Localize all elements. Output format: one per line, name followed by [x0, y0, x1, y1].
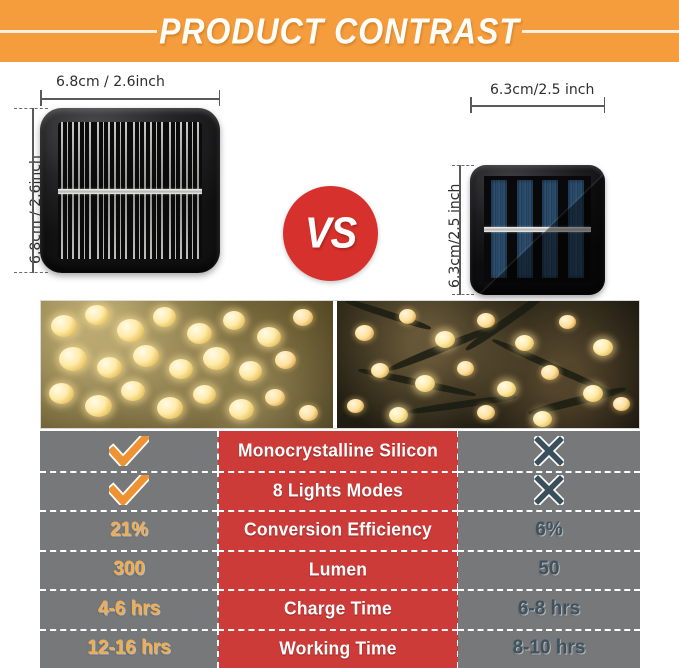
others-solar-panel — [470, 165, 605, 295]
ours-height-dimension-line — [32, 108, 34, 273]
others-value-text: 50 — [538, 557, 559, 581]
column-divider — [217, 431, 219, 471]
table-row: 21%Conversion Efficiency6% — [40, 510, 640, 550]
ours-value-text: 4-6 hrs — [98, 597, 160, 621]
feature-label-cell: Conversion Efficiency — [218, 510, 458, 550]
others-width-dimension-label: 6.3cm/2.5 inch — [490, 82, 594, 98]
feature-label-text: Lumen — [309, 558, 367, 581]
feature-label-text: Conversion Efficiency — [244, 518, 432, 541]
comparison-table: Monocrystalline Silicon8 Lights Modes21%… — [40, 431, 640, 668]
ours-cell-busbar — [58, 189, 202, 194]
others-value-cell: 6% — [458, 510, 640, 550]
product-photo-strip — [40, 300, 640, 429]
feature-label-text: Charge Time — [284, 597, 392, 620]
ours-height-guide-top — [14, 108, 48, 109]
cross-icon — [534, 475, 564, 505]
others-width-tick-right — [604, 97, 606, 113]
ours-value-cell: 21% — [40, 510, 218, 550]
others-value-cell: 6-8 hrs — [458, 589, 640, 629]
others-height-guide-bottom — [452, 294, 474, 295]
ours-value-cell: 300 — [40, 550, 218, 590]
feature-label-text: Monocrystalline Silicon — [238, 439, 438, 462]
others-height-guide-top — [452, 165, 474, 166]
others-value-cell — [458, 431, 640, 471]
ours-width-tick-right — [219, 90, 221, 106]
feature-label-text: Working Time — [279, 637, 396, 660]
column-divider — [217, 510, 219, 550]
column-divider — [217, 589, 219, 629]
others-value-cell: 8-10 hrs — [458, 629, 640, 668]
check-icon — [109, 475, 149, 505]
feature-label-text: 8 Lights Modes — [273, 479, 403, 502]
product-comparison-area: 6.8cm / 2.6inch 6.8cm / 2.6inch VS 6.3cm… — [0, 62, 679, 294]
vs-badge: VS — [283, 186, 378, 281]
page-title: PRODUCT CONTRAST — [157, 10, 522, 51]
others-product-photo — [337, 301, 639, 428]
ours-product-photo — [41, 301, 333, 428]
ours-width-dimension-label: 6.8cm / 2.6inch — [56, 74, 165, 90]
ours-width-tick-left — [40, 90, 42, 106]
others-value-cell — [458, 471, 640, 511]
vs-badge-label: VS — [305, 209, 356, 259]
column-divider — [217, 471, 219, 511]
cross-icon — [534, 436, 564, 466]
others-value-text: 6-8 hrs — [518, 597, 580, 621]
ours-height-guide-bottom — [14, 272, 48, 273]
others-width-tick-left — [470, 97, 472, 113]
others-solar-cell-face — [484, 176, 591, 282]
feature-label-cell: Monocrystalline Silicon — [218, 431, 458, 471]
ours-value-cell — [40, 471, 218, 511]
table-row: 8 Lights Modes — [40, 471, 640, 511]
feature-label-cell: Charge Time — [218, 589, 458, 629]
ours-value-text: 21% — [110, 518, 148, 542]
table-row: 12-16 hrsWorking Time8-10 hrs — [40, 629, 640, 668]
others-height-dimension-label: 6.3cm/2.5 inch — [447, 184, 463, 288]
table-row: Monocrystalline Silicon — [40, 431, 640, 471]
others-cell-busbar — [484, 227, 591, 232]
ours-value-text: 300 — [113, 557, 145, 581]
others-value-text: 8-10 hrs — [513, 636, 586, 660]
feature-label-cell: 8 Lights Modes — [218, 471, 458, 511]
ours-solar-panel — [40, 108, 220, 273]
table-row: 300Lumen50 — [40, 550, 640, 590]
header-banner: PRODUCT CONTRAST — [0, 0, 679, 62]
ours-width-dimension-line — [40, 98, 220, 100]
ours-value-cell: 4-6 hrs — [40, 589, 218, 629]
others-value-text: 6% — [535, 518, 562, 542]
table-row: 4-6 hrsCharge Time6-8 hrs — [40, 589, 640, 629]
ours-value-cell — [40, 431, 218, 471]
others-height-dimension-line — [459, 165, 461, 295]
column-divider — [217, 550, 219, 590]
banner-rule-right — [522, 30, 679, 33]
feature-label-cell: Working Time — [218, 629, 458, 668]
ours-value-cell: 12-16 hrs — [40, 629, 218, 668]
banner-rule-left — [0, 30, 157, 33]
others-width-dimension-line — [470, 105, 605, 107]
feature-label-cell: Lumen — [218, 550, 458, 590]
column-divider — [217, 629, 219, 668]
others-value-cell: 50 — [458, 550, 640, 590]
ours-solar-cell-face — [58, 122, 202, 259]
ours-value-text: 12-16 hrs — [87, 636, 170, 660]
check-icon — [109, 436, 149, 466]
